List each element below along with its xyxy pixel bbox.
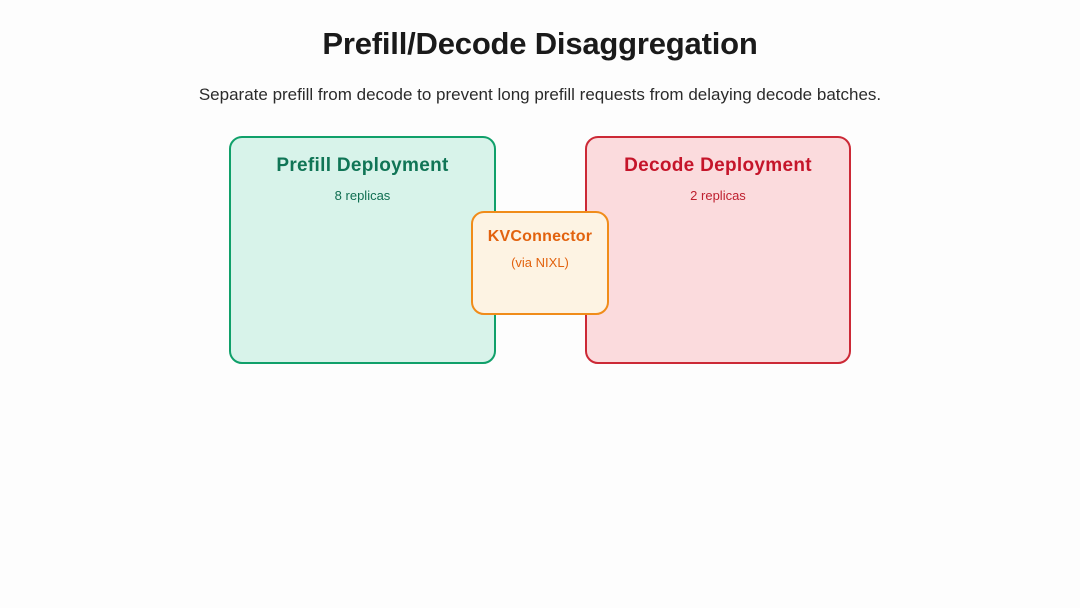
slide-canvas: Prefill/Decode Disaggregation Separate p… bbox=[0, 0, 1080, 608]
kv-connector-subtitle: (via NIXL) bbox=[473, 254, 607, 272]
page-title: Prefill/Decode Disaggregation bbox=[0, 24, 1080, 64]
prefill-replica-count: 8 replicas bbox=[231, 187, 494, 205]
page-subtitle: Separate prefill from decode to prevent … bbox=[0, 83, 1080, 107]
prefill-deployment-box: Prefill Deployment 8 replicas bbox=[229, 136, 496, 364]
decode-deployment-title: Decode Deployment bbox=[587, 154, 849, 178]
kv-connector-box: KVConnector (via NIXL) bbox=[471, 211, 609, 315]
prefill-deployment-title: Prefill Deployment bbox=[231, 154, 494, 178]
decode-deployment-box: Decode Deployment 2 replicas bbox=[585, 136, 851, 364]
kv-connector-title: KVConnector bbox=[473, 227, 607, 247]
decode-replica-count: 2 replicas bbox=[587, 187, 849, 205]
